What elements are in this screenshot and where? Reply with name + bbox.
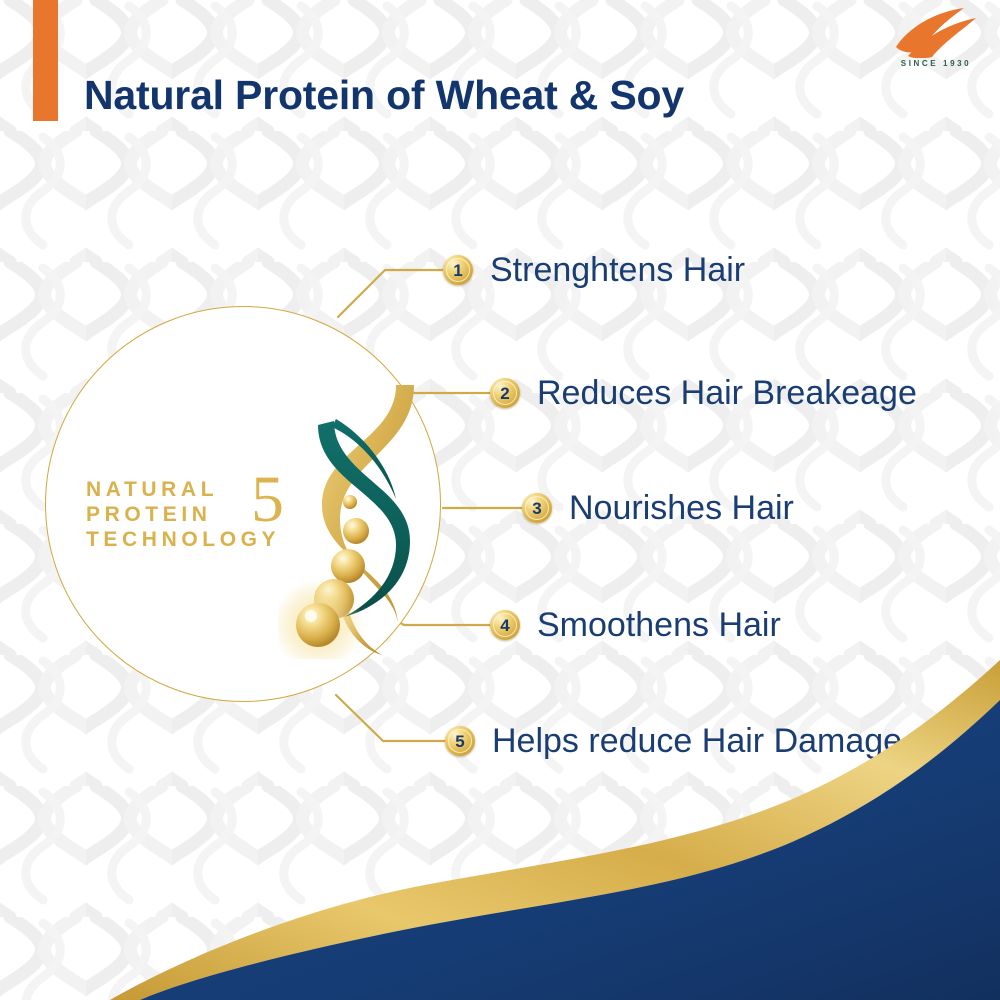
dna-helix-icon <box>278 359 428 659</box>
benefit-label: Reduces Hair Breakeage <box>537 374 917 412</box>
benefit-number: 4 <box>500 617 509 634</box>
benefit-number-badge: 4 <box>490 610 520 640</box>
benefit-row[interactable]: 2 Reduces Hair Breakeage <box>490 374 917 412</box>
flame-swoosh-icon <box>892 6 980 58</box>
protein-technology-emblem: NATURAL PROTEIN TECHNOLOGY 5 <box>45 306 441 702</box>
benefit-label: Strenghtens Hair <box>490 251 745 289</box>
benefit-number-badge: 3 <box>522 493 552 523</box>
benefit-row[interactable]: 1 Strenghtens Hair <box>443 251 745 289</box>
benefit-label: Smoothens Hair <box>537 606 781 644</box>
benefit-row[interactable]: 3 Nourishes Hair <box>522 489 794 527</box>
benefit-number: 1 <box>453 262 462 279</box>
brand-tagline: SINCE 1930 <box>888 59 984 68</box>
benefit-number: 3 <box>532 500 541 517</box>
benefit-number-badge: 2 <box>490 378 520 408</box>
benefit-row[interactable]: 4 Smoothens Hair <box>490 606 781 644</box>
page-title: Natural Protein of Wheat & Soy <box>84 72 684 119</box>
benefit-number: 2 <box>500 385 509 402</box>
benefit-number-badge: 1 <box>443 255 473 285</box>
accent-bar <box>33 0 58 121</box>
benefit-label: Nourishes Hair <box>569 489 794 527</box>
bottom-wave-decoration <box>0 660 1000 1000</box>
promo-graphic: Natural Protein of Wheat & Soy SINCE 193… <box>0 0 1000 1000</box>
brand-logo: SINCE 1930 <box>888 6 984 68</box>
